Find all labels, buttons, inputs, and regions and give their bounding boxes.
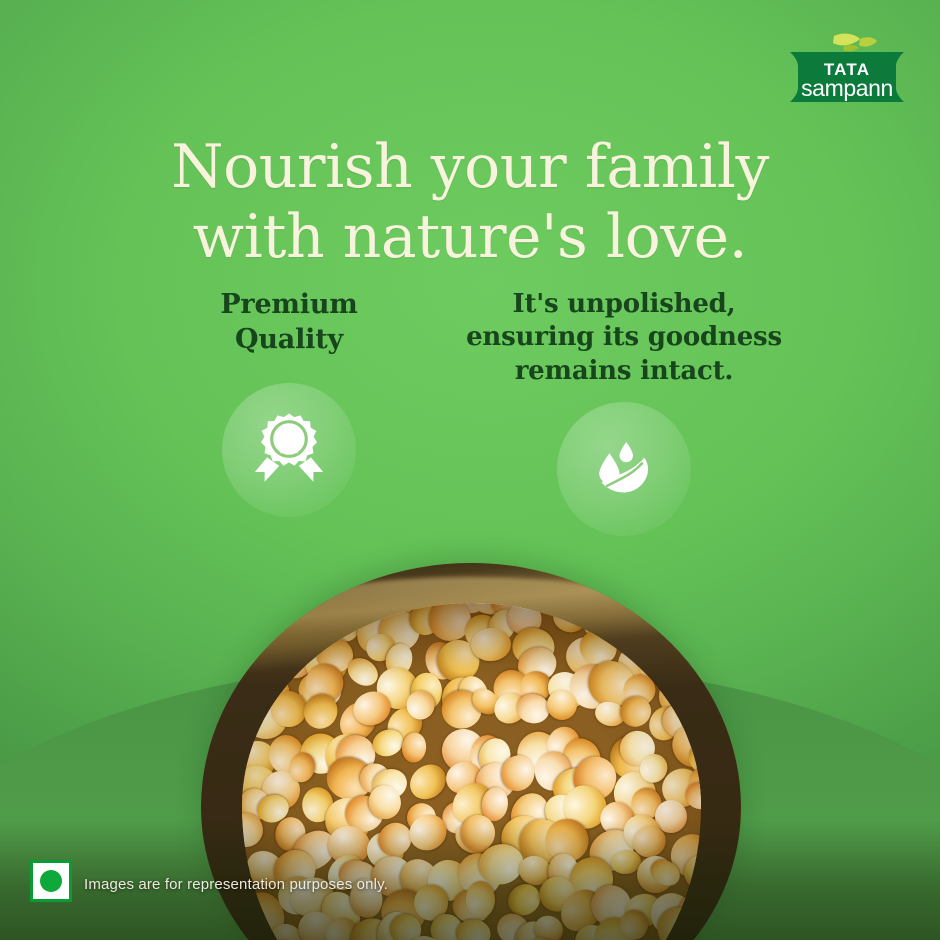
leaf-droplet-icon: [588, 433, 660, 505]
feature-title-line-1: Premium: [220, 289, 357, 320]
headline: Nourish your family with nature's love.: [0, 132, 940, 272]
feature-list: Premium Quality: [0, 288, 940, 558]
headline-line-1: Nourish your family: [0, 132, 940, 202]
feature-title-line-3: remains intact.: [515, 356, 734, 386]
headline-line-2: with nature's love.: [0, 202, 940, 272]
advertisement-canvas: TATA sampann Nourish your family with na…: [0, 0, 940, 940]
vegetarian-mark: [30, 860, 72, 902]
feature-icon-circle: [222, 383, 356, 517]
feature-icon-circle: [557, 402, 691, 536]
feature-title-line-2: ensuring its goodness: [466, 322, 782, 352]
feature-icon-wrap: [454, 402, 794, 536]
disclaimer-text: Images are for representation purposes o…: [84, 876, 388, 893]
vegetarian-dot: [40, 870, 62, 892]
leaf-icon: [833, 34, 877, 52]
tata-sampann-logo[interactable]: TATA sampann: [776, 30, 918, 110]
feature-premium-quality: Premium Quality: [144, 288, 434, 517]
feature-title: Premium Quality: [144, 288, 434, 357]
feature-title: It's unpolished, ensuring its goodness r…: [454, 288, 794, 388]
dal-grain: [401, 731, 428, 764]
feature-title-line-2: Quality: [235, 324, 343, 355]
feature-title-line-1: It's unpolished,: [512, 289, 735, 319]
feature-icon-wrap: [144, 383, 434, 517]
feature-unpolished-goodness: It's unpolished, ensuring its goodness r…: [454, 288, 794, 536]
dal-grain: [461, 815, 495, 851]
award-rosette-icon: [250, 411, 328, 489]
dal-grain: [620, 909, 649, 940]
logo-sampann-text: sampann: [801, 75, 893, 101]
